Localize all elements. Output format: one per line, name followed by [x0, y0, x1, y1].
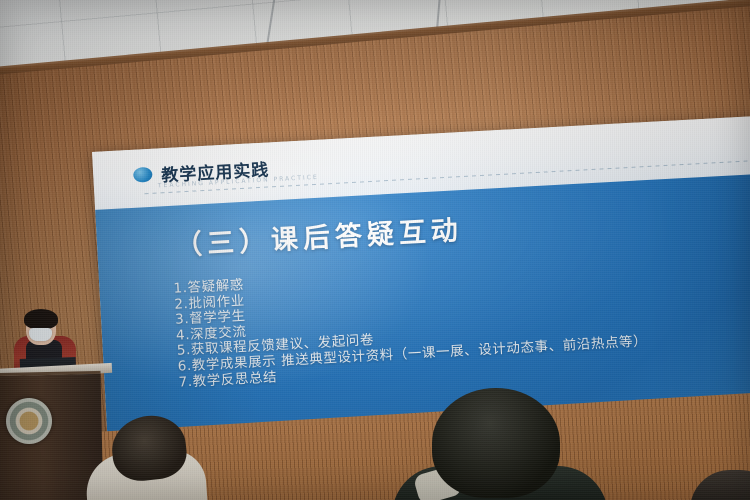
face-mask	[29, 328, 52, 341]
slide-body: （三）课后答疑互动 1.答疑解惑 2.批阅作业 3.督学学生 4.深度交流 5.…	[95, 172, 750, 434]
slide-bullet-list: 1.答疑解惑 2.批阅作业 3.督学学生 4.深度交流 5.获取课程反馈建议、发…	[173, 248, 750, 390]
blue-dot-icon	[133, 167, 153, 183]
audience-member-center-head	[432, 388, 560, 498]
slide-title: （三）课后答疑互动	[174, 208, 464, 263]
lecture-hall-photo: 教学应用实践 TEACHING APPLICATION PRACTICE （三）…	[0, 0, 750, 500]
presenter-hair	[24, 309, 58, 329]
university-crest-icon	[6, 398, 52, 444]
